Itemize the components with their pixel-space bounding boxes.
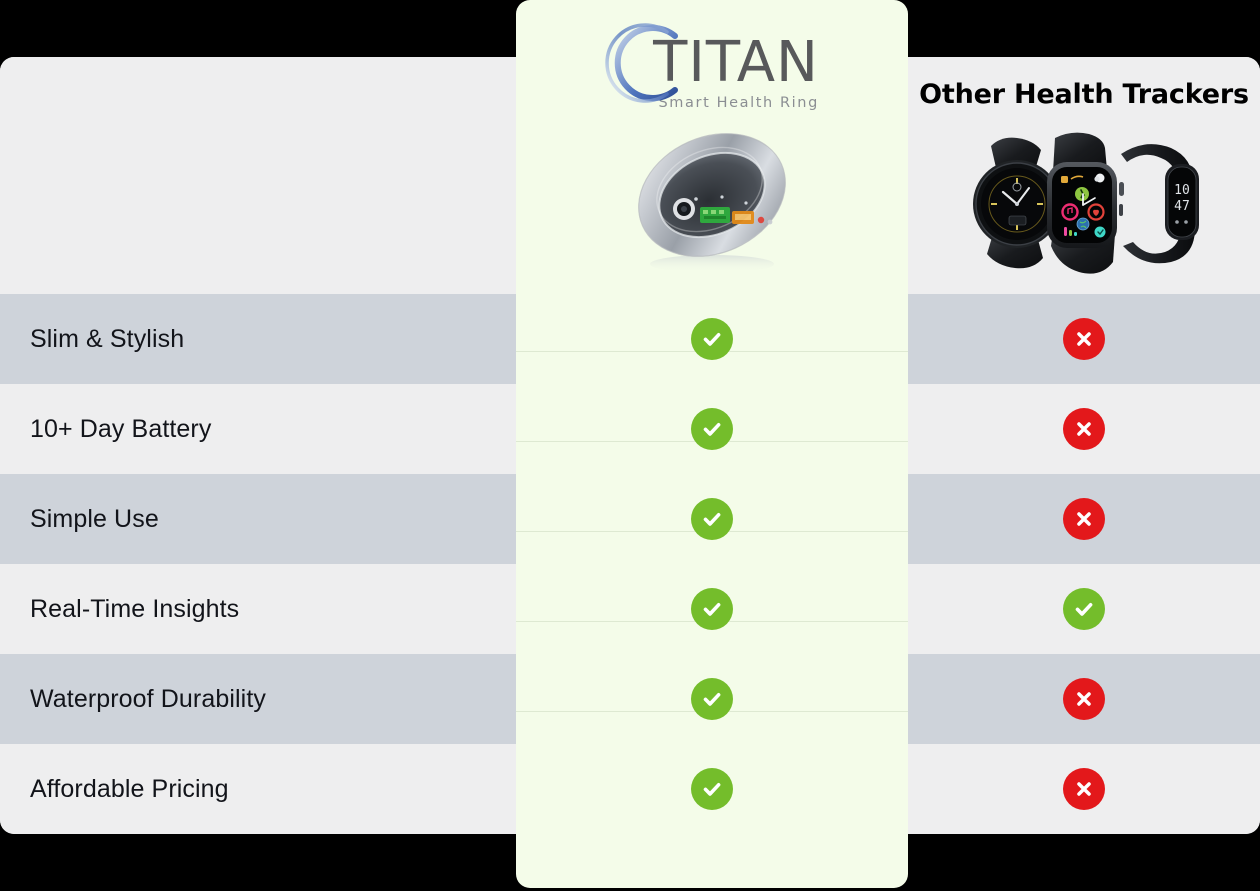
header-cell-feature <box>0 57 516 294</box>
feature-cell: Slim & Stylish <box>0 294 516 384</box>
svg-text:47: 47 <box>1174 199 1190 214</box>
check-circle-icon <box>691 768 733 810</box>
other-cell <box>908 564 1260 654</box>
feature-cell: Waterproof Durability <box>0 654 516 744</box>
feature-label: Real-Time Insights <box>30 595 239 624</box>
other-trackers-title: Other Health Trackers <box>908 79 1260 110</box>
titan-highlight-column: TITAN Smart Health Ring <box>516 0 908 888</box>
cross-circle-icon <box>1063 678 1105 720</box>
other-trackers-header: Other Health Trackers <box>908 57 1260 294</box>
titan-cell-icon-wrap <box>516 654 908 744</box>
feature-cell: Simple Use <box>0 474 516 564</box>
feature-label: 10+ Day Battery <box>30 415 211 444</box>
cross-circle-icon <box>1063 318 1105 360</box>
check-circle-icon <box>691 588 733 630</box>
other-cell <box>908 384 1260 474</box>
titan-cell-icon-wrap <box>516 744 908 834</box>
feature-label: Waterproof Durability <box>30 685 266 714</box>
titan-logo: TITAN Smart Health Ring <box>516 26 908 116</box>
logo-wordmark: TITAN <box>653 35 819 91</box>
check-circle-icon <box>691 408 733 450</box>
comparison-table-page: Slim & Stylish10+ Day BatterySimple UseR… <box>0 0 1260 891</box>
titan-cell-icon-wrap <box>516 564 908 654</box>
check-circle-icon <box>1063 588 1105 630</box>
other-cell <box>908 744 1260 834</box>
feature-label: Affordable Pricing <box>30 775 229 804</box>
feature-label: Simple Use <box>30 505 159 534</box>
other-trackers-image: 10 47 <box>908 125 1260 290</box>
titan-cell-icon-wrap <box>516 474 908 564</box>
check-circle-icon <box>691 678 733 720</box>
feature-cell: Real-Time Insights <box>0 564 516 654</box>
check-circle-icon <box>691 318 733 360</box>
cross-circle-icon <box>1063 408 1105 450</box>
cross-circle-icon <box>1063 768 1105 810</box>
titan-cell-icon-wrap <box>516 294 908 384</box>
other-cell <box>908 654 1260 744</box>
feature-cell: Affordable Pricing <box>0 744 516 834</box>
other-cell <box>908 294 1260 384</box>
check-circle-icon <box>691 498 733 540</box>
cross-circle-icon <box>1063 498 1105 540</box>
titan-cell-icon-wrap <box>516 384 908 474</box>
feature-cell: 10+ Day Battery <box>0 384 516 474</box>
feature-label: Slim & Stylish <box>30 325 184 354</box>
titan-ring-image <box>516 118 908 283</box>
svg-text:10: 10 <box>1174 183 1190 198</box>
other-cell <box>908 474 1260 564</box>
